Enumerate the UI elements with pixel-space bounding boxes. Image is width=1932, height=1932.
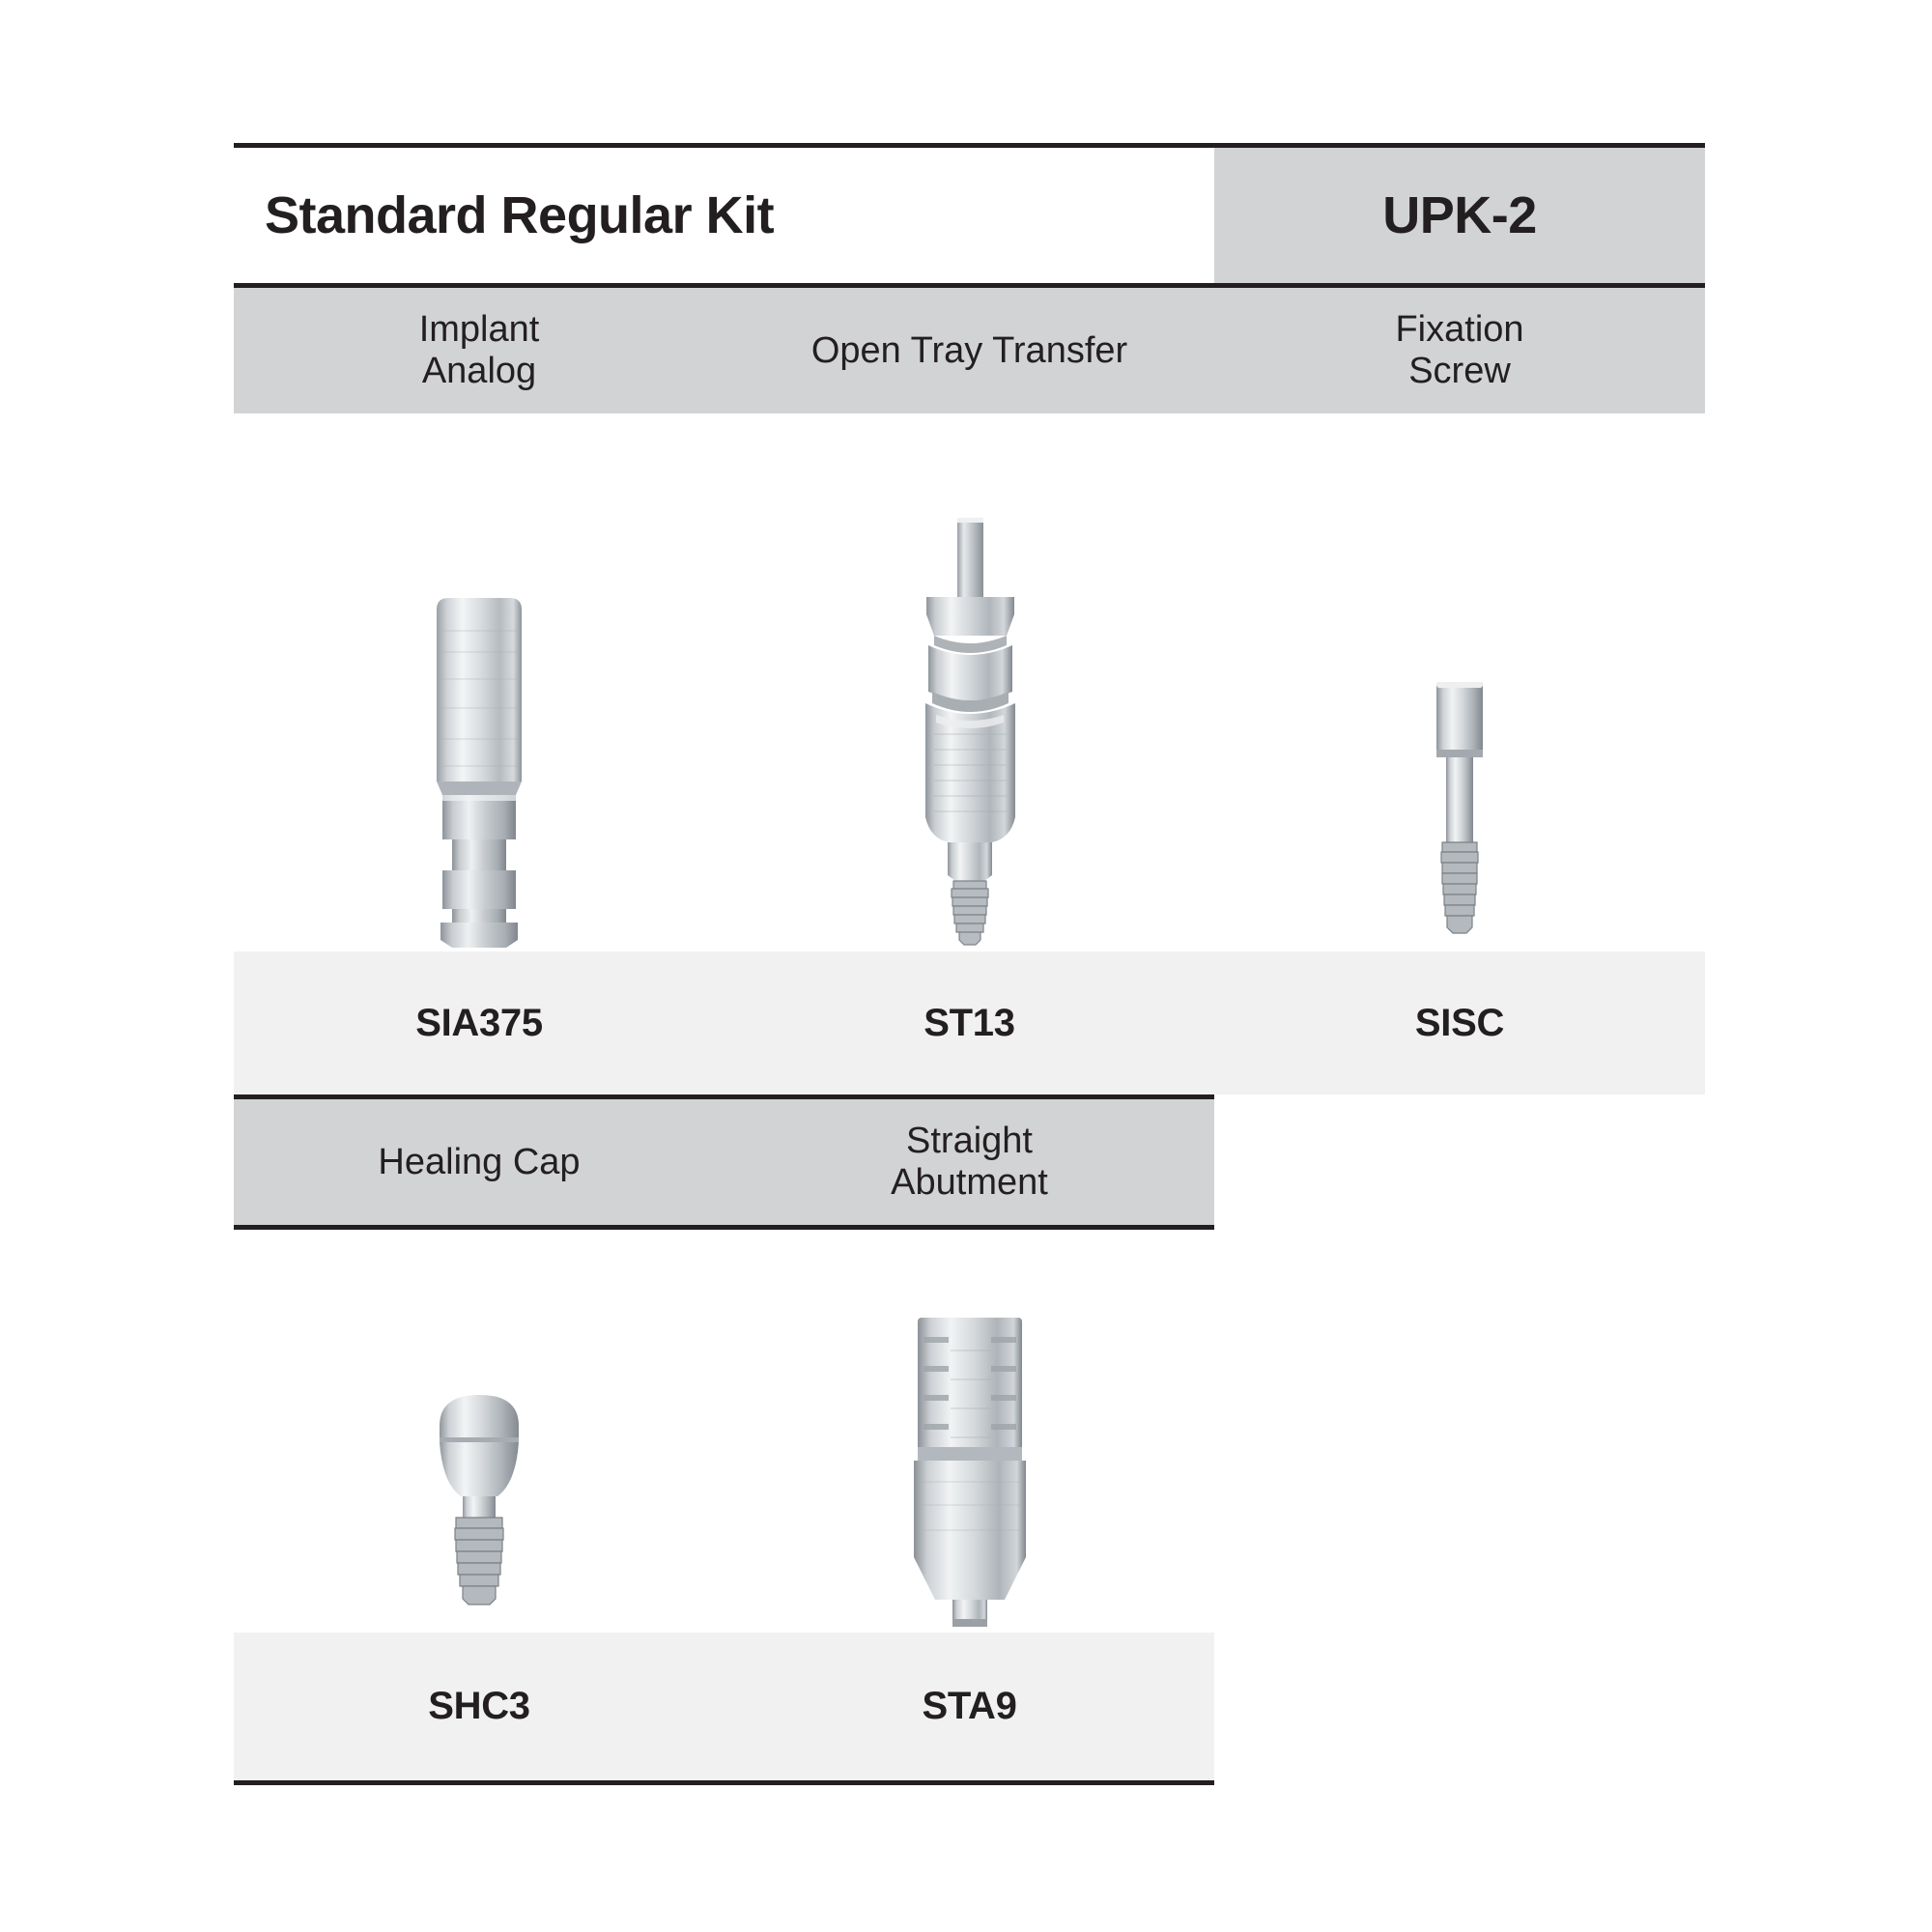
image-cell-healing-cap	[234, 1235, 724, 1631]
rule-under-subheader-2	[234, 1225, 1214, 1230]
code-label-sia375: SIA375	[415, 1002, 543, 1045]
image-cell-implant-analog	[234, 423, 724, 950]
subheader-implant-analog: Implant Analog	[234, 288, 724, 413]
subheader-implant-analog-text: Implant Analog	[419, 309, 540, 391]
subheader-healing-cap: Healing Cap	[234, 1099, 724, 1225]
subheader-straight-abutment: Straight Abutment	[724, 1099, 1214, 1225]
image-cell-open-tray-transfer	[724, 423, 1214, 950]
code-cell-sia375: SIA375	[234, 952, 724, 1094]
kit-title-cell: Standard Regular Kit	[234, 148, 1214, 283]
code-label-sisc: SISC	[1415, 1002, 1504, 1045]
subheader-open-tray-transfer-text: Open Tray Transfer	[811, 330, 1127, 372]
page-title: Standard Regular Kit	[234, 185, 774, 245]
kit-code-cell: UPK-2	[1214, 148, 1705, 283]
code-label-st13: ST13	[923, 1002, 1014, 1045]
subheader-fixation-screw-text: Fixation Screw	[1395, 309, 1523, 391]
image-cell-straight-abutment	[724, 1235, 1214, 1631]
code-cell-sta9: STA9	[724, 1633, 1214, 1780]
implant-analog-part	[421, 592, 537, 950]
open-tray-transfer-part	[907, 510, 1033, 950]
kit-code-label: UPK-2	[1382, 185, 1537, 245]
subheader-fixation-screw: Fixation Screw	[1214, 288, 1705, 413]
code-label-shc3: SHC3	[428, 1685, 530, 1728]
fixation-screw-part	[1421, 674, 1498, 950]
healing-cap-part	[426, 1389, 532, 1631]
code-cell-st13: ST13	[724, 952, 1214, 1094]
subheader-straight-abutment-text: Straight Abutment	[891, 1121, 1048, 1203]
straight-abutment-part	[902, 1312, 1037, 1631]
code-cell-shc3: SHC3	[234, 1633, 724, 1780]
product-sheet: Standard Regular Kit UPK-2 Implant Analo…	[0, 0, 1932, 1932]
subheader-open-tray-transfer: Open Tray Transfer	[724, 288, 1214, 413]
rule-bottom	[234, 1780, 1214, 1785]
code-label-sta9: STA9	[922, 1685, 1016, 1728]
code-band-section-1: SIA375 ST13 SISC	[234, 952, 1705, 1094]
subheader-healing-cap-text: Healing Cap	[378, 1142, 580, 1183]
code-cell-sisc: SISC	[1214, 952, 1705, 1094]
code-band-section-2: SHC3 STA9	[234, 1633, 1214, 1780]
image-cell-fixation-screw	[1214, 423, 1705, 950]
title-row: Standard Regular Kit UPK-2	[234, 148, 1705, 283]
